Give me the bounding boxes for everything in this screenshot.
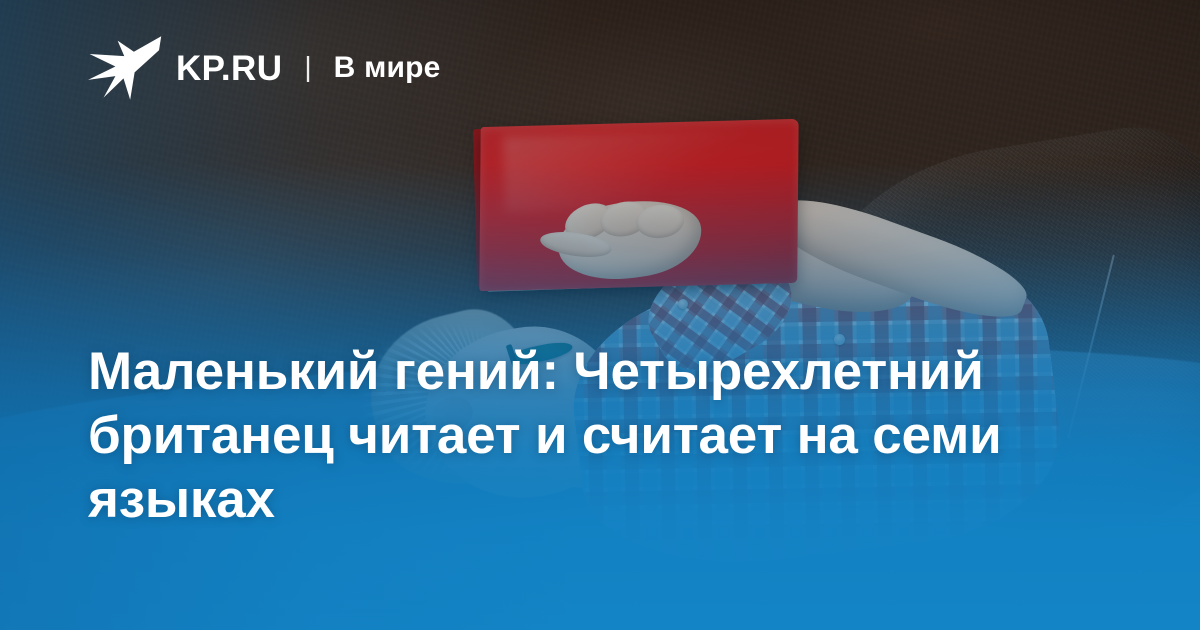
brand-separator: |	[304, 53, 311, 81]
article-headline: Маленький гений: Четырехлетний британец …	[88, 340, 1088, 532]
brand-name[interactable]: KP.RU	[176, 51, 282, 86]
section-label[interactable]: В мире	[334, 53, 441, 83]
brand-header[interactable]: KP.RU | В мире	[88, 34, 441, 102]
social-share-card: KP.RU | В мире Маленький гений: Четырехл…	[0, 0, 1200, 630]
swallow-bird-logo-icon[interactable]	[88, 34, 162, 102]
